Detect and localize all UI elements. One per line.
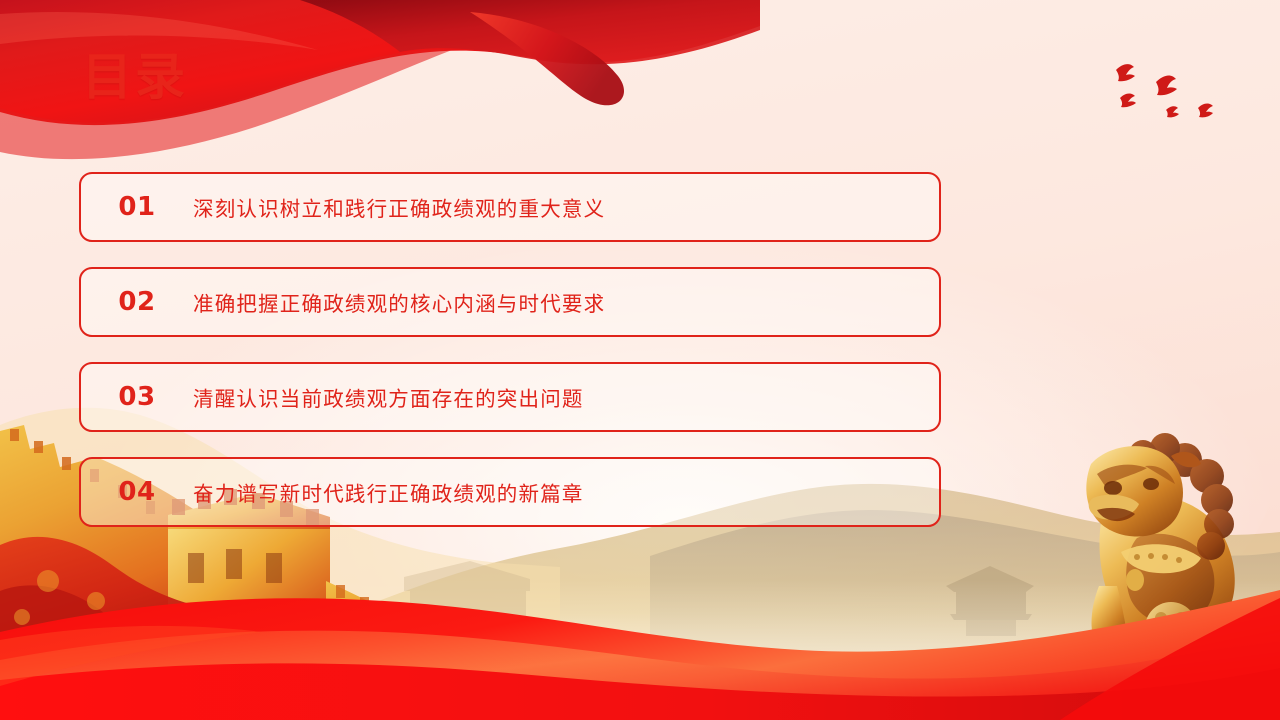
toc-item-04[interactable]: 04 奋力谱写新时代践行正确政绩观的新篇章 [79,457,941,527]
page-title: 目录 [82,52,188,102]
flying-birds-icon [1098,58,1223,130]
toc-number: 04 [81,477,193,507]
slide-canvas: 目录 01 深刻认识树立和践行正确政绩观的重大意义 02 准确把握正确政绩观的核… [0,0,1280,720]
toc-number: 01 [81,192,193,222]
toc-label: 清醒认识当前政绩观方面存在的突出问题 [193,382,584,412]
red-silk-waves [0,540,1280,720]
toc-item-01[interactable]: 01 深刻认识树立和践行正确政绩观的重大意义 [79,172,941,242]
golden-guardian-lion-statue [1025,400,1275,665]
toc-item-03[interactable]: 03 清醒认识当前政绩观方面存在的突出问题 [79,362,941,432]
toc-label: 奋力谱写新时代践行正确政绩观的新篇章 [193,477,584,507]
toc-label: 深刻认识树立和践行正确政绩观的重大意义 [193,192,605,222]
table-of-contents: 01 深刻认识树立和践行正确政绩观的重大意义 02 准确把握正确政绩观的核心内涵… [79,172,941,527]
toc-item-02[interactable]: 02 准确把握正确政绩观的核心内涵与时代要求 [79,267,941,337]
toc-number: 03 [81,382,193,412]
toc-number: 02 [81,287,193,317]
toc-label: 准确把握正确政绩观的核心内涵与时代要求 [193,287,605,317]
